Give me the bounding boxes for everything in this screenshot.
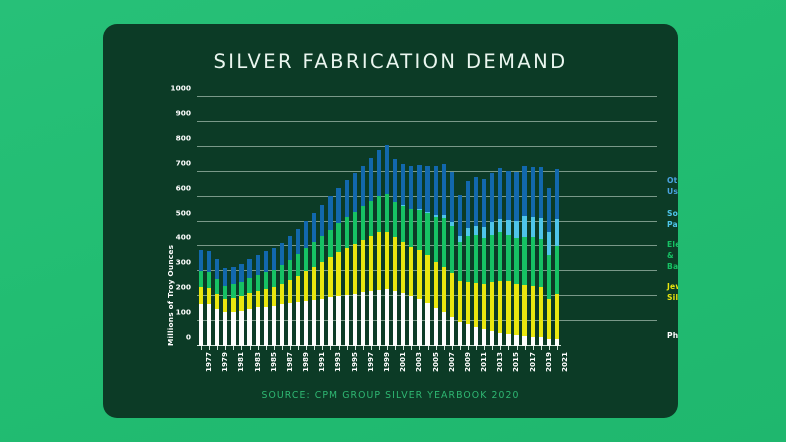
bar-segment-jewelry-silverware [547,299,551,339]
bar-2001 [393,159,397,346]
bar-segment-electronics-batteries [296,254,300,275]
bar-segment-electronics-batteries [377,196,381,233]
x-axis-tick [379,346,380,350]
bar-segment-jewelry-silverware [442,267,446,312]
bar-2009 [458,195,462,346]
bar-1997 [361,166,365,347]
bar-segment-electronics-batteries [239,282,243,296]
bar-segment-photography [425,303,429,346]
bar-segment-jewelry-silverware [482,284,486,329]
bar-segment-photography [506,334,510,346]
x-axis-tick [330,346,331,350]
bar-segment-electronics-batteries [256,275,260,291]
bar-segment-jewelry-silverware [264,289,268,306]
x-axis-tick [322,346,323,350]
bar-segment-electronics-batteries [539,239,543,287]
x-axis-tick [428,346,429,350]
bar-1993 [328,196,332,346]
bar-segment-other-uses [401,164,405,206]
bar-segment-jewelry-silverware [417,250,421,299]
bar-1985 [264,251,268,346]
bar-segment-other-uses [482,179,486,226]
bar-2007 [442,164,446,346]
bar-segment-photography [288,303,292,346]
bar-segment-photography [417,299,421,346]
bar-segment-jewelry-silverware [328,257,332,297]
bar-segment-electronics-batteries [425,213,429,255]
bar-segment-photography [280,304,284,346]
bar-segment-photography [401,293,405,346]
bar-segment-photography [466,324,470,346]
bar-segment-electronics-batteries [328,230,332,257]
bar-segment-jewelry-silverware [247,293,251,308]
x-axis-tick [492,346,493,350]
bar-segment-photography [264,307,268,346]
plot-area: 01002003004005006007008009001000 1977197… [197,97,657,346]
x-axis-tick [282,346,283,350]
bar-segment-photography [555,339,559,346]
bar-segment-solar-panels [498,219,502,233]
bar-segment-photography [247,309,251,346]
bar-segment-electronics-batteries [466,236,470,282]
bar-1979 [215,259,219,346]
legend-item-other-uses[interactable]: Other Uses [667,175,678,197]
bar-segment-photography [207,304,211,346]
x-axis-tick [403,346,404,350]
bar-2021 [555,169,559,346]
x-axis-tick [371,346,372,350]
bar-1987 [280,243,284,346]
x-axis-tick [363,346,364,350]
bar-1990 [304,221,308,346]
bar-segment-other-uses [434,166,438,215]
x-axis-tick [266,346,267,350]
bar-segment-electronics-batteries [345,217,349,248]
bar-segment-other-uses [377,150,381,195]
bar-1989 [296,229,300,347]
bar-segment-other-uses [458,195,462,237]
bar-segment-jewelry-silverware [425,255,429,303]
x-axis-tick-label: 2007 [447,352,456,372]
bar-segment-photography [272,306,276,346]
bar-segment-electronics-batteries [409,209,413,247]
x-axis-tick-label: 2009 [463,352,472,372]
bar-segment-other-uses [466,181,470,228]
y-axis-tick-label: 1000 [170,84,191,93]
bar-segment-other-uses [409,166,413,208]
x-axis-tick [484,346,485,350]
x-axis-tick [517,346,518,350]
bar-segment-solar-panels [506,220,510,235]
bar-segment-photography [328,297,332,346]
bar-1988 [288,236,292,346]
gridline [197,146,657,147]
bar-2000 [385,145,389,346]
x-axis-tick [339,346,340,350]
bar-segment-solar-panels [514,221,518,238]
bar-segment-jewelry-silverware [385,232,389,289]
bar-segment-jewelry-silverware [256,291,260,307]
x-axis-tick [209,346,210,350]
bar-segment-electronics-batteries [361,206,365,240]
bar-segment-electronics-batteries [304,248,308,271]
x-axis-tick [419,346,420,350]
bar-segment-jewelry-silverware [377,232,381,290]
x-axis-tick [533,346,534,350]
x-axis-tick-label: 1985 [269,352,278,372]
x-axis-tick [460,346,461,350]
bar-segment-jewelry-silverware [409,247,413,296]
bar-segment-electronics-batteries [522,237,526,285]
x-axis-tick [468,346,469,350]
x-axis-tick [452,346,453,350]
bar-segment-solar-panels [539,218,543,239]
bar-segment-jewelry-silverware [514,284,518,335]
bar-segment-electronics-batteries [442,218,446,267]
x-axis-tick-label: 1999 [382,352,391,372]
bar-segment-photography [393,291,397,346]
bar-segment-other-uses [539,167,543,217]
bar-1999 [377,150,381,346]
bar-segment-photography [539,337,543,346]
bar-segment-electronics-batteries [490,235,494,282]
bar-segment-electronics-batteries [450,226,454,273]
bar-segment-jewelry-silverware [490,282,494,331]
bar-2014 [498,168,502,346]
x-axis-tick [306,346,307,350]
bar-segment-photography [304,301,308,346]
bar-segment-photography [442,312,446,346]
x-axis-tick [500,346,501,350]
bar-segment-jewelry-silverware [296,276,300,302]
bar-segment-jewelry-silverware [539,287,543,337]
x-axis-tick [274,346,275,350]
bar-segment-electronics-batteries [474,235,478,282]
bar-segment-photography [474,327,478,346]
bar-segment-other-uses [320,205,324,236]
bar-segment-photography [239,311,243,346]
bar-segment-photography [409,296,413,346]
bar-segment-jewelry-silverware [466,282,470,324]
x-axis-tick [525,346,526,350]
x-axis-tick [225,346,226,350]
bar-segment-photography [256,307,260,346]
y-axis-tick-label: 700 [176,158,191,167]
bar-segment-other-uses [280,243,284,265]
y-axis-tick-label: 0 [186,333,191,342]
bar-segment-electronics-batteries [514,238,518,284]
bar-segment-jewelry-silverware [304,271,308,300]
bar-segment-jewelry-silverware [474,283,478,327]
x-axis-tick-label: 2021 [560,352,569,372]
x-axis-tick [241,346,242,350]
x-axis-tick [557,346,558,350]
bar-segment-other-uses [547,188,551,232]
source-note: SOURCE: CPM GROUP SILVER YEARBOOK 2020 [103,390,678,401]
y-axis-label: Millions of Troy Ounces [166,97,175,346]
bar-segment-jewelry-silverware [312,267,316,300]
x-axis-tick [476,346,477,350]
bar-segment-photography [547,339,551,346]
bar-segment-photography [369,291,373,346]
bar-segment-electronics-batteries [280,265,284,283]
bar-segment-photography [377,290,381,346]
bar-segment-other-uses [264,251,268,272]
bar-segment-other-uses [442,164,446,215]
bar-segment-other-uses [239,264,243,282]
y-axis-tick-label: 400 [176,233,191,242]
bar-segment-electronics-batteries [336,223,340,252]
x-axis-tick [258,346,259,350]
bar-2003 [409,166,413,346]
x-axis-tick-label: 2013 [495,352,504,372]
bar-segment-photography [385,289,389,346]
bar-segment-other-uses [474,177,478,226]
x-axis-tick-label: 2011 [479,352,488,372]
page-title: SILVER FABRICATION DEMAND [103,50,678,73]
bar-segment-other-uses [231,267,235,284]
bar-segment-jewelry-silverware [280,284,284,304]
y-axis-tick-label: 800 [176,133,191,142]
bar-segment-photography [361,292,365,346]
x-axis-tick-label: 2001 [398,352,407,372]
x-axis-tick-label: 2003 [414,352,423,372]
bar-segment-solar-panels [474,226,478,236]
bar-segment-jewelry-silverware [450,273,454,317]
bar-segment-jewelry-silverware [288,280,292,303]
y-axis-tick-label: 300 [176,258,191,267]
bar-2018 [531,167,535,346]
gridline [197,96,657,97]
bar-segment-other-uses [385,145,389,194]
bar-2020 [547,188,551,346]
bar-1978 [207,251,211,346]
bar-segment-photography [458,322,462,346]
x-axis-tick [541,346,542,350]
bar-2006 [434,166,438,346]
legend-item-photography[interactable]: Photography [667,330,678,341]
chart-card: SILVER FABRICATION DEMAND Millions of Tr… [103,24,678,418]
bar-segment-electronics-batteries [482,238,486,284]
x-axis-tick-label: 1991 [317,352,326,372]
bar-segment-photography [312,300,316,346]
bar-2011 [474,177,478,346]
bar-segment-electronics-batteries [272,270,276,287]
bar-2008 [450,172,454,346]
bar-2010 [466,181,470,346]
x-axis-tick-label: 1989 [301,352,310,372]
bar-segment-photography [531,337,535,346]
bar-segment-photography [522,336,526,346]
bar-segment-electronics-batteries [199,271,203,286]
bar-segment-jewelry-silverware [345,248,349,295]
bar-segment-jewelry-silverware [272,287,276,305]
bar-2013 [490,173,494,346]
bar-1996 [353,173,357,346]
legend-item-electronics-batteries[interactable]: Electronics & Batteries [667,239,678,272]
x-axis-tick-label: 1983 [253,352,262,372]
bar-segment-photography [336,296,340,346]
bar-segment-solar-panels [490,222,494,235]
bar-segment-jewelry-silverware [369,236,373,291]
bar-segment-photography [345,295,349,346]
bar-segment-other-uses [223,268,227,285]
bar-segment-other-uses [296,229,300,255]
bar-1977 [199,250,203,346]
x-axis-tick-label: 1977 [204,352,213,372]
bar-segment-jewelry-silverware [207,288,211,304]
x-axis-tick [290,346,291,350]
bar-segment-jewelry-silverware [393,237,397,291]
bar-segment-photography [434,308,438,346]
x-axis-tick-label: 1993 [333,352,342,372]
x-axis-tick-label: 2015 [511,352,520,372]
bar-segment-solar-panels [555,219,559,246]
bar-segment-jewelry-silverware [434,262,438,308]
bar-segment-jewelry-silverware [353,244,357,294]
bar-segment-jewelry-silverware [215,294,219,309]
bar-segment-other-uses [498,168,502,218]
bar-segment-electronics-batteries [312,242,316,266]
bar-1986 [272,248,276,346]
bar-1998 [369,158,373,346]
x-axis-tick-label: 1997 [366,352,375,372]
bar-segment-other-uses [450,172,454,221]
bar-segment-jewelry-silverware [199,287,203,304]
x-axis-tick-label: 2019 [544,352,553,372]
x-axis-tick-label: 1979 [220,352,229,372]
bar-segment-jewelry-silverware [223,299,227,313]
bar-segment-jewelry-silverware [239,296,243,310]
x-axis-tick [347,346,348,350]
bar-segment-other-uses [336,188,340,223]
bar-segment-jewelry-silverware [231,298,235,312]
bar-segment-solar-panels [547,232,551,255]
bar-segment-photography [199,304,203,346]
bar-segment-jewelry-silverware [401,242,405,293]
bar-segment-electronics-batteries [531,237,535,286]
y-axis-tick-label: 100 [176,308,191,317]
bar-segment-electronics-batteries [288,260,292,280]
bar-segment-other-uses [272,248,276,269]
bar-segment-jewelry-silverware [531,286,535,336]
x-axis-tick [411,346,412,350]
bar-segment-photography [320,299,324,346]
x-axis-tick-label: 2005 [431,352,440,372]
bar-segment-electronics-batteries [369,201,373,236]
bar-segment-jewelry-silverware [336,252,340,296]
bar-segment-other-uses [425,166,429,212]
bar-segment-photography [490,331,494,346]
bar-segment-jewelry-silverware [498,281,502,332]
x-axis-tick-label: 2017 [528,352,537,372]
bar-2017 [522,166,526,346]
bar-1991 [312,213,316,346]
bar-2002 [401,164,405,346]
bar-segment-electronics-batteries [320,236,324,262]
bar-segment-other-uses [361,166,365,206]
y-axis-tick-label: 200 [176,283,191,292]
bar-segment-other-uses [199,250,203,271]
bar-segment-other-uses [417,165,421,209]
bar-segment-electronics-batteries [207,272,211,287]
bar-segment-electronics-batteries [247,278,251,293]
bar-segment-photography [215,309,219,346]
x-axis-tick [436,346,437,350]
bar-segment-solar-panels [466,228,470,236]
bar-1984 [256,255,260,346]
bar-2019 [539,167,543,346]
x-axis-tick [250,346,251,350]
y-axis-tick-label: 500 [176,208,191,217]
bar-segment-other-uses [393,159,397,202]
bar-segment-jewelry-silverware [555,294,559,339]
bar-1981 [231,267,235,346]
bar-2012 [482,179,486,346]
x-axis-tick-label: 1981 [236,352,245,372]
bar-segment-jewelry-silverware [522,285,526,336]
bar-segment-electronics-batteries [215,279,219,293]
bar-segment-electronics-batteries [417,210,421,250]
bar-segment-solar-panels [531,217,535,237]
bar-2005 [425,166,429,346]
bar-segment-electronics-batteries [264,272,268,289]
bar-segment-photography [296,302,300,346]
bar-segment-photography [231,312,235,346]
legend-item-jewelry-silverware[interactable]: Jewelry & Silverware [667,281,678,303]
bar-segment-photography [223,312,227,346]
bar-segment-other-uses [304,221,308,249]
bar-segment-other-uses [531,167,535,217]
bar-segment-photography [353,294,357,346]
bar-segment-photography [514,335,518,346]
bar-1992 [320,205,324,346]
bar-segment-electronics-batteries [385,194,389,233]
bar-1980 [223,268,227,346]
bar-segment-photography [482,329,486,346]
bar-segment-electronics-batteries [498,232,502,281]
bar-segment-other-uses [345,180,349,217]
bar-segment-electronics-batteries [547,255,551,298]
bar-segment-other-uses [490,173,494,222]
bar-segment-jewelry-silverware [506,281,510,334]
bar-1982 [239,264,243,346]
bar-segment-other-uses [215,259,219,279]
bar-segment-other-uses [369,158,373,200]
y-axis-tick-label: 900 [176,108,191,117]
bar-segment-other-uses [207,251,211,272]
bar-segment-other-uses [506,171,510,220]
bar-segment-other-uses [555,169,559,219]
bar-segment-other-uses [522,166,526,216]
x-axis-tick [549,346,550,350]
bar-1994 [336,188,340,346]
x-axis-tick [314,346,315,350]
bar-segment-electronics-batteries [401,206,405,242]
bar-segment-other-uses [328,196,332,229]
x-axis-tick [395,346,396,350]
bar-segment-other-uses [514,172,518,221]
bar-segment-other-uses [247,259,251,278]
bar-segment-photography [450,317,454,346]
legend-item-solar-panels[interactable]: Solar Panels [667,208,678,230]
x-axis-tick [298,346,299,350]
bar-segment-solar-panels [482,227,486,239]
bar-1983 [247,259,251,346]
bar-segment-electronics-batteries [555,246,559,294]
x-axis-tick [444,346,445,350]
x-axis-tick [233,346,234,350]
